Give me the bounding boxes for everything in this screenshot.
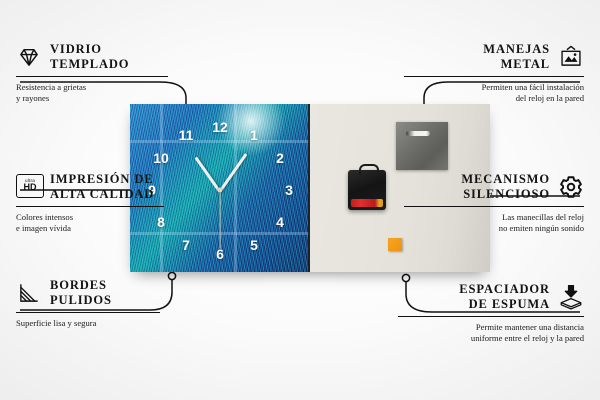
feature-header: ESPACIADORDE ESPUMA bbox=[369, 282, 584, 312]
feature-bordes-pulidos: BORDESPULIDOS Superficie lisa y segura bbox=[16, 278, 231, 329]
feature-description: Permiten una fácil instalacióndel reloj … bbox=[369, 82, 584, 104]
pane-line-h1 bbox=[130, 140, 310, 143]
feature-vidrio-templado: VIDRIOTEMPLADO Resistencia a grietasy ra… bbox=[16, 42, 231, 104]
infographic-canvas: 12 1 2 3 4 5 6 7 8 9 10 11 bbox=[0, 0, 600, 400]
feature-description: Resistencia a grietasy rayones bbox=[16, 82, 231, 104]
feature-divider bbox=[404, 76, 584, 78]
feature-title: ESPACIADORDE ESPUMA bbox=[459, 282, 550, 312]
clock-numeral-2: 2 bbox=[276, 151, 284, 165]
feature-description: Superficie lisa y segura bbox=[16, 318, 231, 329]
diamond-icon bbox=[16, 44, 42, 70]
gear-icon bbox=[558, 174, 584, 200]
connector-dot-espaciador bbox=[402, 274, 409, 281]
clock-numeral-7: 7 bbox=[182, 238, 190, 252]
feature-title: IMPRESIÓN DEALTA CALIDAD bbox=[50, 172, 154, 202]
feature-mecanismo-silencioso: MECANISMOSILENCIOSO Las manecillas del r… bbox=[369, 172, 584, 234]
feature-espaciador-espuma: ESPACIADORDE ESPUMA Permite mantener una… bbox=[369, 282, 584, 344]
clock-numeral-6: 6 bbox=[216, 247, 224, 261]
feature-manejas-metal: MANEJASMETAL Permiten una fácil instalac… bbox=[369, 42, 584, 104]
hanger-slot bbox=[406, 131, 430, 136]
polished-edge-icon bbox=[16, 280, 42, 306]
feature-header: MECANISMOSILENCIOSO bbox=[369, 172, 584, 202]
feature-divider bbox=[16, 76, 168, 78]
feature-title: VIDRIOTEMPLADO bbox=[50, 42, 129, 72]
feature-header: MANEJASMETAL bbox=[369, 42, 584, 72]
feature-title: MANEJASMETAL bbox=[483, 42, 550, 72]
ultra-hd-large-text: HD bbox=[24, 183, 37, 192]
foam-spacer bbox=[388, 238, 402, 251]
feature-title: BORDESPULIDOS bbox=[50, 278, 112, 308]
picture-frame-hanger-icon bbox=[558, 44, 584, 70]
feature-header: ultra HD IMPRESIÓN DEALTA CALIDAD bbox=[16, 172, 231, 202]
feature-description: Permite mantener una distanciauniforme e… bbox=[369, 322, 584, 344]
feature-divider bbox=[16, 206, 164, 208]
feature-header: BORDESPULIDOS bbox=[16, 278, 231, 308]
foam-spacer-arrow-icon bbox=[558, 284, 584, 310]
feature-description: Colores intensose imagen vívida bbox=[16, 212, 231, 234]
clock-numeral-1: 1 bbox=[250, 128, 258, 142]
clock-numeral-10: 10 bbox=[153, 151, 169, 165]
clock-numeral-4: 4 bbox=[276, 215, 284, 229]
feature-impresion-alta-calidad: ultra HD IMPRESIÓN DEALTA CALIDAD Colore… bbox=[16, 172, 231, 234]
ultra-hd-icon: ultra HD bbox=[16, 174, 42, 200]
clock-numeral-5: 5 bbox=[250, 238, 258, 252]
feature-divider bbox=[16, 312, 160, 314]
feature-divider bbox=[398, 316, 584, 318]
clock-numeral-12: 12 bbox=[212, 120, 228, 134]
feature-title: MECANISMOSILENCIOSO bbox=[461, 172, 550, 202]
feature-divider bbox=[404, 206, 584, 208]
metal-hanger-plate bbox=[396, 122, 448, 170]
feature-header: VIDRIOTEMPLADO bbox=[16, 42, 231, 72]
clock-numeral-11: 11 bbox=[179, 128, 194, 142]
feature-description: Las manecillas del relojno emiten ningún… bbox=[369, 212, 584, 234]
clock-numeral-3: 3 bbox=[285, 183, 293, 197]
